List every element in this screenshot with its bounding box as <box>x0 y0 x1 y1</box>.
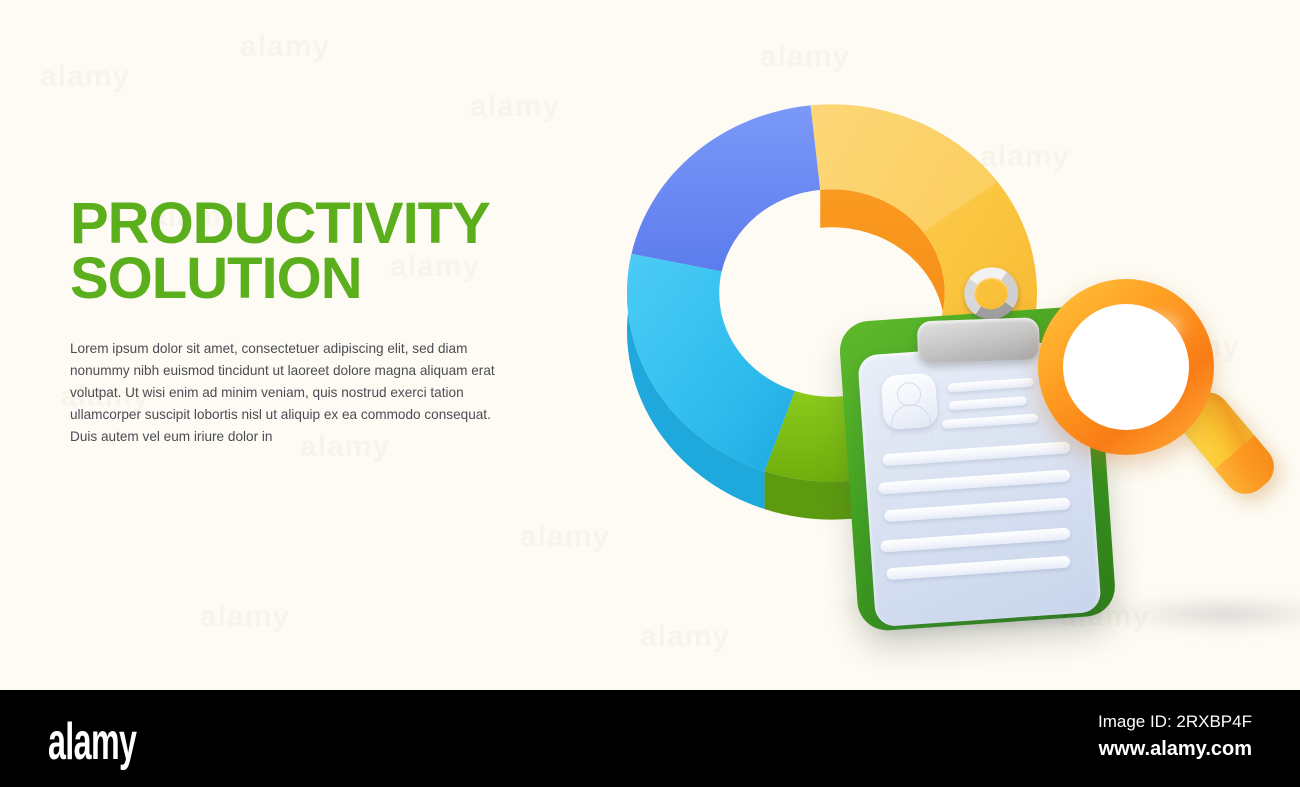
alamy-footer-bar: alamy Image ID: 2RXBP4F www.alamy.com <box>0 690 1300 787</box>
screenshot-root: alamyalamyalamyalamyalamyalamyalamyalamy… <box>0 0 1300 787</box>
paper-line-short <box>942 413 1038 429</box>
watermark-text: alamy <box>200 600 290 634</box>
paper-line-short <box>949 396 1027 410</box>
avatar-icon <box>881 373 939 431</box>
magnifier-handle-tip <box>1215 436 1283 503</box>
avatar-shoulders <box>890 403 932 440</box>
watermark-text: alamy <box>240 30 330 64</box>
clipboard-clip <box>917 317 1040 363</box>
website-label: www.alamy.com <box>1099 738 1252 761</box>
alamy-logo: alamy <box>48 712 136 772</box>
watermark-text: alamy <box>40 60 130 94</box>
watermark-text: alamy <box>520 520 610 554</box>
donut-segment <box>627 254 795 471</box>
paper-line-short <box>947 378 1033 393</box>
watermark-text: alamy <box>470 90 560 124</box>
magnifier-ring <box>1038 279 1214 455</box>
paper-line-long <box>886 556 1070 581</box>
headline-line-2: SOLUTION <box>70 251 570 306</box>
hero-illustration <box>600 55 1290 665</box>
page-title: PRODUCTIVITY SOLUTION <box>70 196 570 306</box>
body-paragraph: Lorem ipsum dolor sit amet, consectetuer… <box>70 338 500 448</box>
magnifier-gloss <box>1088 302 1189 375</box>
image-id-label: Image ID: 2RXBP4F <box>1098 712 1252 732</box>
hero-section: alamyalamyalamyalamyalamyalamyalamyalamy… <box>0 0 1300 690</box>
magnifying-glass-icon <box>1028 273 1268 543</box>
donut-segment <box>631 105 820 271</box>
copy-block: PRODUCTIVITY SOLUTION Lorem ipsum dolor … <box>70 196 570 448</box>
